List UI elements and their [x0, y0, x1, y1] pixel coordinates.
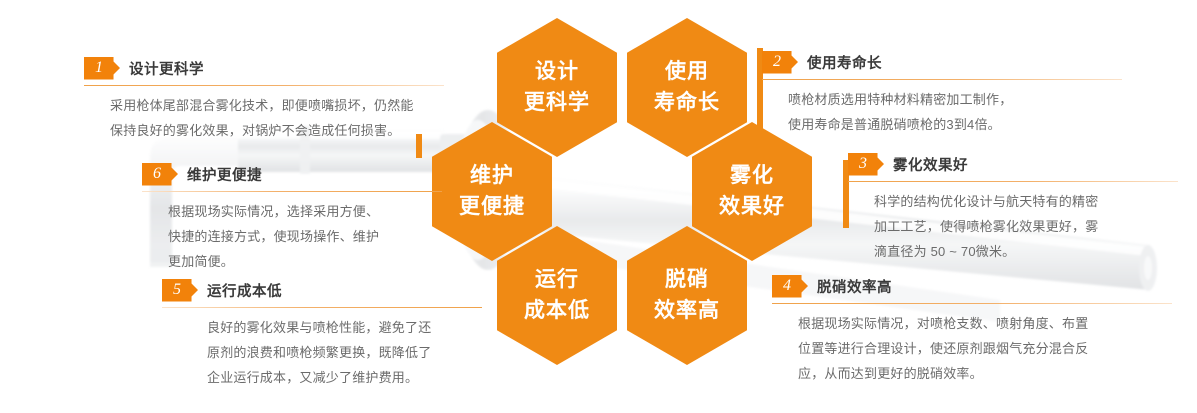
feature-6-head: 6 维护更便捷	[142, 162, 442, 186]
feature-1-number-badge: 1	[84, 57, 120, 80]
hexagon-design-line2: 更科学	[524, 88, 590, 118]
feature-6-line-2: 快捷的连接方式，使现场操作、维护	[168, 224, 442, 249]
feature-1-title: 设计更科学	[129, 58, 204, 79]
feature-6-line-1: 根据现场实际情况，选择采用方便、	[168, 199, 442, 224]
feature-5-head: 5 运行成本低	[162, 278, 482, 302]
feature-2-divider	[762, 79, 1122, 80]
feature-5-body: 良好的雾化效果与喷枪性能，避免了还 原剂的浪费和喷枪频繁更换，既降低了 企业运行…	[162, 315, 482, 390]
feature-2-line-1: 喷枪材质选用特种材料精密加工制作，	[788, 87, 1122, 112]
feature-5-line-1: 良好的雾化效果与喷枪性能，避免了还	[207, 315, 482, 340]
feature-3-number-badge: 3	[848, 153, 884, 176]
feature-4-line-2: 位置等进行合理设计，使还原剂跟烟气充分混合反	[798, 336, 1172, 361]
feature-5-number: 5	[162, 279, 192, 302]
feature-2-number: 2	[762, 51, 792, 74]
feature-2-number-badge: 2	[762, 51, 798, 74]
feature-6-divider	[142, 191, 442, 192]
feature-5-title: 运行成本低	[207, 280, 282, 301]
feature-6-body: 根据现场实际情况，选择采用方便、 快捷的连接方式，使现场操作、维护 更加简便。	[142, 199, 442, 274]
hexagon-atomization-line2: 效果好	[719, 192, 785, 222]
feature-5-line-3: 企业运行成本，又减少了维护费用。	[207, 365, 482, 390]
feature-1-line-2: 保持良好的雾化效果，对锅炉不会造成任何损害。	[110, 118, 444, 143]
hexagon-lifespan-line1: 使用	[665, 57, 709, 87]
feature-2-head: 2 使用寿命长	[762, 50, 1122, 74]
feature-2: 2 使用寿命长 喷枪材质选用特种材料精密加工制作， 使用寿命是普通脱硝喷枪的3到…	[762, 50, 1122, 137]
feature-3-title: 雾化效果好	[893, 154, 968, 175]
hexagon-maintenance-line1: 维护	[470, 161, 514, 191]
hexagon-maintenance-line2: 更便捷	[459, 192, 525, 222]
feature-6-title: 维护更便捷	[187, 164, 262, 185]
feature-5-line-2: 原剂的浪费和喷枪频繁更换，既降低了	[207, 340, 482, 365]
feature-6: 6 维护更便捷 根据现场实际情况，选择采用方便、 快捷的连接方式，使现场操作、维…	[142, 162, 442, 274]
hexagon-cost-line1: 运行	[535, 265, 579, 295]
feature-4-number-badge: 4	[772, 275, 808, 298]
feature-3-line-2: 加工工艺，使得喷枪雾化效果更好，雾	[874, 214, 1178, 239]
feature-4-head: 4 脱硝效率高	[772, 274, 1172, 298]
hexagon-design-line1: 设计	[535, 57, 579, 87]
feature-2-body: 喷枪材质选用特种材料精密加工制作， 使用寿命是普通脱硝喷枪的3到4倍。	[762, 87, 1122, 137]
feature-1-line-1: 采用枪体尾部混合雾化技术，即便喷嘴损坏，仍然能	[110, 93, 444, 118]
feature-2-line-2: 使用寿命是普通脱硝喷枪的3到4倍。	[788, 112, 1122, 137]
feature-4-line-3: 应，从而达到更好的脱硝效率。	[798, 361, 1172, 386]
feature-4-number: 4	[772, 275, 802, 298]
feature-3-number: 3	[848, 153, 878, 176]
feature-3: 3 雾化效果好 科学的结构优化设计与航天特有的精密 加工工艺，使得喷枪雾化效果更…	[848, 152, 1178, 264]
hexagon-denitration-line2: 效率高	[654, 296, 720, 326]
feature-6-line-3: 更加简便。	[168, 249, 442, 274]
feature-2-title: 使用寿命长	[807, 52, 882, 73]
feature-1: 1 设计更科学 采用枪体尾部混合雾化技术，即便喷嘴损坏，仍然能 保持良好的雾化效…	[84, 56, 444, 143]
feature-3-head: 3 雾化效果好	[848, 152, 1178, 176]
hexagon-atomization-line1: 雾化	[730, 161, 774, 191]
feature-5-number-badge: 5	[162, 279, 198, 302]
feature-4-line-1: 根据现场实际情况，对喷枪支数、喷射角度、布置	[798, 311, 1172, 336]
hexagon-denitration-line1: 脱硝	[665, 265, 709, 295]
hexagon-cost-line2: 成本低	[524, 296, 590, 326]
feature-4-divider	[772, 303, 1172, 304]
feature-4: 4 脱硝效率高 根据现场实际情况，对喷枪支数、喷射角度、布置 位置等进行合理设计…	[772, 274, 1172, 386]
feature-4-body: 根据现场实际情况，对喷枪支数、喷射角度、布置 位置等进行合理设计，使还原剂跟烟气…	[772, 311, 1172, 386]
feature-3-line-1: 科学的结构优化设计与航天特有的精密	[874, 189, 1178, 214]
feature-6-number-badge: 6	[142, 163, 178, 186]
feature-5-divider	[162, 307, 482, 308]
hexagon-lifespan-line2: 寿命长	[654, 88, 720, 118]
feature-1-divider	[84, 85, 444, 86]
feature-3-line-3: 滴直径为 50 ~ 70微米。	[874, 239, 1178, 264]
feature-5: 5 运行成本低 良好的雾化效果与喷枪性能，避免了还 原剂的浪费和喷枪频繁更换，既…	[162, 278, 482, 390]
feature-3-body: 科学的结构优化设计与航天特有的精密 加工工艺，使得喷枪雾化效果更好，雾 滴直径为…	[848, 189, 1178, 264]
feature-3-divider	[848, 181, 1178, 182]
infographic-canvas: 设计 更科学 使用 寿命长 维护 更便捷 雾化 效果好 运行 成本低 脱硝 效率…	[0, 0, 1197, 413]
feature-1-body: 采用枪体尾部混合雾化技术，即便喷嘴损坏，仍然能 保持良好的雾化效果，对锅炉不会造…	[84, 93, 444, 143]
feature-1-head: 1 设计更科学	[84, 56, 444, 80]
feature-4-title: 脱硝效率高	[817, 276, 892, 297]
feature-6-number: 6	[142, 163, 172, 186]
feature-1-number: 1	[84, 57, 114, 80]
